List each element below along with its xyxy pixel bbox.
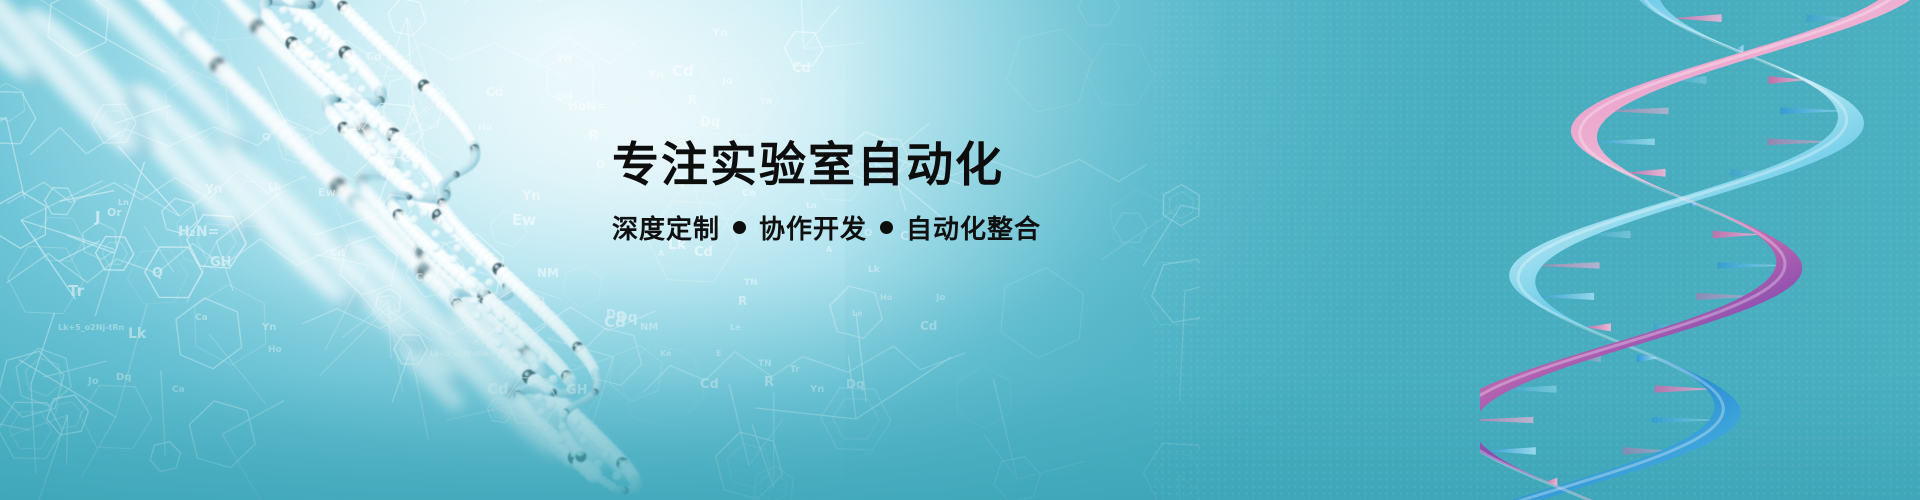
svg-text:A: A — [826, 245, 833, 254]
svg-text:O: O — [596, 158, 605, 171]
hero-text-block: 专注实验室自动化 深度定制 协作开发 自动化整合 — [612, 140, 1372, 246]
svg-text:Yn: Yn — [521, 189, 541, 204]
hero-subtitle: 深度定制 协作开发 自动化整合 — [612, 209, 1372, 246]
svg-text:Cd: Cd — [330, 248, 345, 259]
page-title: 专注实验室自动化 — [612, 140, 1372, 193]
svg-text:Dq: Dq — [700, 115, 720, 130]
svg-text:Cd: Cd — [486, 85, 503, 99]
svg-text:Yn: Yn — [555, 52, 572, 65]
svg-text:Yn: Yn — [647, 68, 664, 81]
svg-text:GH: GH — [210, 255, 232, 270]
dna-helix-icon — [1480, 0, 1920, 500]
svg-text:Or: Or — [107, 206, 122, 219]
svg-text:Cd: Cd — [400, 148, 422, 166]
svg-text:Yn: Yn — [204, 182, 222, 196]
svg-text:Yn: Yn — [711, 26, 728, 39]
svg-text:Ce: Ce — [436, 102, 450, 113]
svg-text:A: A — [658, 249, 665, 258]
svg-text:Ln: Ln — [118, 198, 129, 207]
svg-text:Cd: Cd — [694, 245, 713, 260]
svg-text:Lk: Lk — [352, 123, 365, 133]
subtitle-part-3: 自动化整合 — [906, 209, 1041, 246]
svg-text:Lk: Lk — [268, 182, 281, 193]
svg-text:Cd: Cd — [672, 62, 694, 80]
svg-text:HoN=: HoN= — [568, 99, 606, 113]
svg-text:Cd: Cd — [792, 61, 811, 76]
svg-text:H₂N=: H₂N= — [178, 224, 219, 240]
svg-text:R: R — [588, 128, 599, 144]
hero-banner: TrLk+5_o2Nj-tRnQH₂N=JOrGHLkCaCdYnLnCdCeL… — [0, 0, 1920, 500]
svg-text:TN: TN — [760, 97, 772, 106]
svg-text:Ho: Ho — [478, 123, 492, 133]
svg-text:Q: Q — [262, 132, 271, 143]
svg-text:J: J — [94, 208, 101, 226]
bullet-separator-icon — [880, 221, 893, 234]
svg-text:Cd: Cd — [366, 50, 382, 63]
svg-text:R: R — [688, 93, 697, 107]
svg-text:OH: OH — [556, 92, 573, 103]
subtitle-part-2: 协作开发 — [759, 209, 867, 246]
subtitle-part-1: 深度定制 — [612, 209, 720, 246]
svg-text:Jo: Jo — [721, 76, 733, 87]
svg-text:Ew: Ew — [318, 186, 336, 199]
bullet-separator-icon — [733, 221, 746, 234]
svg-text:Ew: Ew — [512, 211, 536, 229]
